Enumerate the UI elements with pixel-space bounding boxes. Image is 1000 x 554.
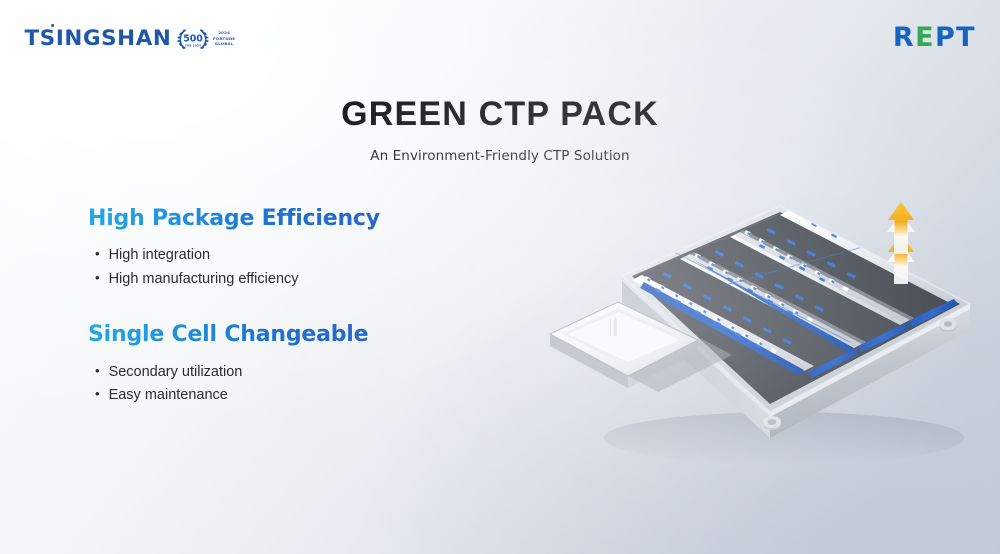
bullet-text: Secondary utilization: [109, 361, 243, 384]
bullet-dot-icon: •: [95, 247, 100, 260]
feature-bullets: • High integration • High manufacturing …: [88, 244, 418, 291]
feature-block-single-cell-changeable: Single Cell Changeable • Secondary utili…: [88, 322, 418, 407]
feature-heading: Single Cell Changeable: [88, 322, 368, 348]
tsingshan-logo: TSINGSHAN: [26, 26, 235, 51]
bullet-text: High integration: [109, 244, 211, 267]
fortune-global-500-badge: 500 THE 2024 2024 FORTUNE GLOBAL: [176, 26, 235, 51]
bullet-text: High manufacturing efficiency: [109, 268, 299, 291]
list-item: • Easy maintenance: [95, 384, 418, 407]
title-block: GREEN CTP PACK An Environment-Friendly C…: [0, 96, 1000, 164]
list-item: • High manufacturing efficiency: [95, 268, 418, 291]
rept-letter-r: R: [893, 24, 915, 51]
feature-block-package-efficiency: High Package Efficiency • High integrati…: [88, 206, 418, 291]
list-item: • High integration: [95, 244, 418, 267]
bullet-dot-icon: •: [95, 387, 100, 400]
arrows-icon: [879, 196, 923, 288]
rept-letter-e: E: [915, 24, 935, 51]
page-title: GREEN CTP PACK: [0, 96, 1000, 133]
feature-list: High Package Efficiency • High integrati…: [88, 206, 418, 408]
bullet-dot-icon: •: [95, 364, 100, 377]
laurel-wreath-icon: 500 THE 2024: [176, 26, 210, 51]
mount-boss-front: [763, 416, 781, 430]
svg-text:THE 2024: THE 2024: [185, 44, 201, 48]
tsingshan-i-dot: [51, 24, 55, 28]
slide-canvas: TSINGSHAN: [0, 0, 1000, 554]
list-item: • Secondary utilization: [95, 361, 418, 384]
mount-boss-right: [940, 318, 957, 332]
rept-letter-t: T: [956, 24, 976, 51]
rept-logo: R E P T: [893, 24, 976, 51]
tsingshan-wordmark: TSINGSHAN: [25, 28, 172, 49]
feature-bullets: • Secondary utilization • Easy maintenan…: [88, 361, 418, 408]
badge-global: GLOBAL: [213, 41, 235, 47]
bullet-dot-icon: •: [95, 271, 100, 284]
page-subtitle: An Environment-Friendly CTP Solution: [0, 148, 1000, 164]
upward-arrows-group: [879, 196, 923, 288]
fortune-global-label: 2024 FORTUNE GLOBAL: [213, 30, 235, 47]
feature-heading: High Package Efficiency: [88, 206, 380, 232]
bullet-text: Easy maintenance: [109, 384, 228, 407]
arrow-up-icon-upper: [888, 202, 914, 238]
rept-letter-p: P: [935, 24, 956, 51]
tsingshan-wordmark-text: TSINGSHAN: [25, 26, 172, 50]
